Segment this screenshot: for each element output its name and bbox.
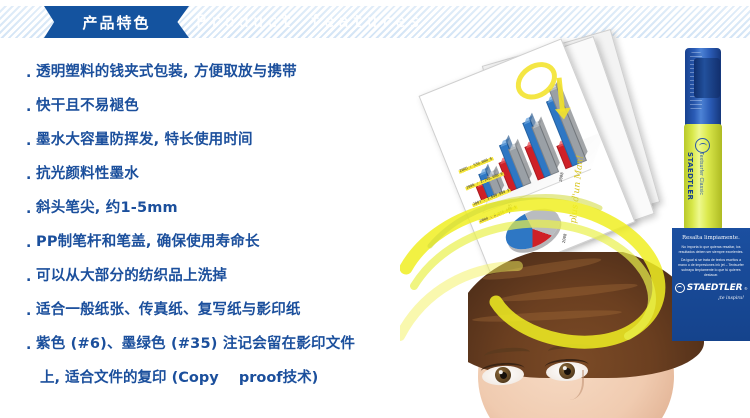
feature-text-continuation: 上, 适合文件的复印 (Copy proof技术) — [26, 368, 436, 388]
bullet-icon: . — [26, 130, 36, 150]
legend-row: 2005 : 536.000 $ — [458, 156, 494, 174]
bullet-icon: . — [26, 198, 36, 218]
registered-mark: ® — [744, 286, 747, 291]
feature-text: 墨水大容量防挥发, 特长使用时间 — [36, 130, 253, 150]
section-title-en: Product features — [196, 6, 424, 38]
list-item: . 墨水大容量防挥发, 特长使用时间 — [26, 130, 436, 164]
section-ribbon: 产品特色 — [44, 6, 189, 38]
list-item: . 斜头笔尖, 约1-5mm — [26, 198, 436, 232]
bullet-icon: . — [26, 62, 36, 82]
list-item: . 抗光颜料性墨水 — [26, 164, 436, 198]
info-card-tagline: ¡te inspira! — [678, 296, 744, 301]
page-header: 产品特色 Product features — [0, 6, 750, 38]
pie-year-label: 2008 — [561, 233, 568, 243]
eye-left — [481, 363, 524, 388]
feature-text: 快干且不易褪色 — [36, 96, 139, 116]
info-card-paragraph: Da igual si se trata de textos escritos … — [678, 258, 744, 278]
pen-cap-window — [694, 58, 720, 98]
staedtler-mark-icon — [675, 283, 685, 293]
bullet-icon: . — [26, 300, 36, 320]
feature-text: 适合一般纸张、传真纸、复写纸与影印纸 — [36, 300, 301, 320]
legend-row: 2006 : 1.240.000 $ — [465, 171, 505, 191]
info-card-logo-text: STAEDTLER — [687, 283, 743, 293]
list-item: . 透明塑料的钱夹式包装, 方便取放与携带 — [26, 62, 436, 96]
pen-cap — [685, 48, 721, 126]
section-title-cn: 产品特色 — [82, 12, 150, 33]
legend-row: 2008 : 2.310.000 $ — [478, 204, 518, 224]
product-features-page: 产品特色 Product features . 透明塑料的钱夹式包装, 方便取放… — [0, 0, 750, 418]
bullet-icon: . — [26, 164, 36, 184]
bullet-icon: . — [26, 96, 36, 116]
bullet-icon: . — [26, 334, 36, 354]
feature-text: PP制笔杆和笔盖, 确保使用寿命长 — [36, 232, 260, 252]
info-card-logo: STAEDTLER ® — [678, 283, 744, 293]
bullet-icon: . — [26, 266, 36, 286]
highlighter-pen: STAEDTLER Textsurfer Classic — [680, 48, 726, 238]
pen-body: STAEDTLER Textsurfer Classic — [684, 124, 722, 230]
pen-brand-label: STAEDTLER — [686, 152, 694, 220]
info-card-paragraph: No importa lo que quieras resaltar, los … — [678, 245, 744, 255]
info-card-title: Resalta limpiamente. — [678, 235, 744, 241]
bullet-icon: . — [26, 232, 36, 252]
list-item: . 适合一般纸张、传真纸、复写纸与影印纸 — [26, 300, 436, 334]
list-item: . 快干且不易褪色 — [26, 96, 436, 130]
list-item: . 紫色 (#6)、墨绿色 (#35) 注记会留在影印文件 — [26, 334, 436, 368]
feature-list: . 透明塑料的钱夹式包装, 方便取放与携带 . 快干且不易褪色 . 墨水大容量防… — [26, 62, 436, 388]
feature-text: 紫色 (#6)、墨绿色 (#35) 注记会留在影印文件 — [36, 334, 355, 354]
pen-model-label: Textsurfer Classic — [698, 152, 704, 218]
feature-text: 抗光颜料性墨水 — [36, 164, 139, 184]
staedtler-logo-icon — [695, 138, 710, 153]
legend-row: 2007 : 1.640.000 $ — [471, 188, 511, 208]
feature-text: 可以从大部分的纺织品上洗掉 — [36, 266, 227, 286]
list-item: . PP制笔杆和笔盖, 确保使用寿命长 — [26, 232, 436, 266]
feature-text: 斜头笔尖, 约1-5mm — [36, 198, 178, 218]
info-card-body: No importa lo que quieras resaltar, los … — [678, 245, 744, 278]
list-item: . 可以从大部分的纺织品上洗掉 — [26, 266, 436, 300]
feature-text: 透明塑料的钱夹式包装, 方便取放与携带 — [36, 62, 297, 82]
staedtler-info-card: Resalta limpiamente. No importa lo que q… — [672, 228, 750, 341]
